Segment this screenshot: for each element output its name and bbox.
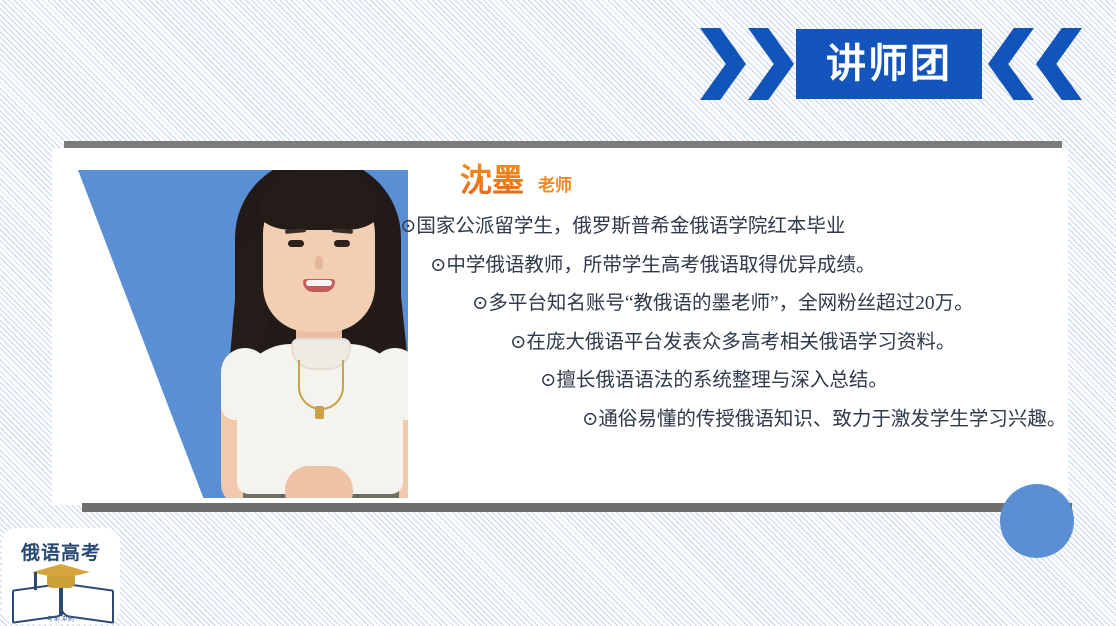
bio-bullet: ⊙多平台知名账号“教俄语的墨老师”，全网粉丝超过20万。: [472, 294, 1050, 314]
profile-card: 沈墨 老师 ⊙国家公派留学生，俄罗斯普希金俄语学院红本毕业 ⊙中学俄语教师，所带…: [52, 141, 1068, 512]
photo-eye-left: [288, 240, 304, 247]
bio-bullet: ⊙国家公派留学生，俄罗斯普希金俄语学院红本毕业: [400, 217, 1050, 237]
logo-subtext: 考前冲刺: [10, 614, 112, 623]
bio-bullet: ⊙在庞大俄语平台发表众多高考相关俄语学习资料。: [510, 333, 1050, 353]
banner-title-box: 讲师团: [796, 29, 982, 99]
graduation-cap-base-icon: [47, 576, 75, 588]
photo-pendant: [315, 406, 324, 419]
teacher-name: 沈墨: [460, 163, 524, 198]
photo-eye-right: [334, 240, 350, 247]
brand-logo: 俄语高考 考前冲刺: [2, 528, 120, 624]
photo-nose: [315, 256, 323, 270]
book-spine-icon: [59, 584, 63, 616]
teacher-role: 老师: [538, 171, 572, 196]
logo-text: 俄语高考: [10, 538, 112, 565]
teacher-photo: [193, 170, 408, 498]
graduation-tassel-icon: [34, 572, 37, 590]
teacher-name-row: 沈墨 老师: [460, 163, 1050, 198]
page-title: 讲师团: [826, 44, 952, 84]
photo-hands: [285, 466, 353, 498]
photo-teeth: [306, 280, 332, 286]
photo-necklace: [298, 360, 344, 410]
card-bottom-bar: [82, 503, 1072, 512]
bio-bullet: ⊙中学俄语教师，所带学生高考俄语取得优异成绩。: [430, 256, 1050, 276]
bio-bullet: ⊙通俗易懂的传授俄语知识、致力于激发学生学习兴趣。: [582, 410, 1050, 430]
accent-circle: [1000, 484, 1074, 558]
teacher-info: 沈墨 老师 ⊙国家公派留学生，俄罗斯普希金俄语学院红本毕业 ⊙中学俄语教师，所带…: [400, 163, 1050, 493]
photo-sleeve-left: [221, 348, 269, 420]
photo-fringe: [259, 170, 379, 230]
bio-bullet: ⊙擅长俄语语法的系统整理与深入总结。: [540, 371, 1050, 391]
